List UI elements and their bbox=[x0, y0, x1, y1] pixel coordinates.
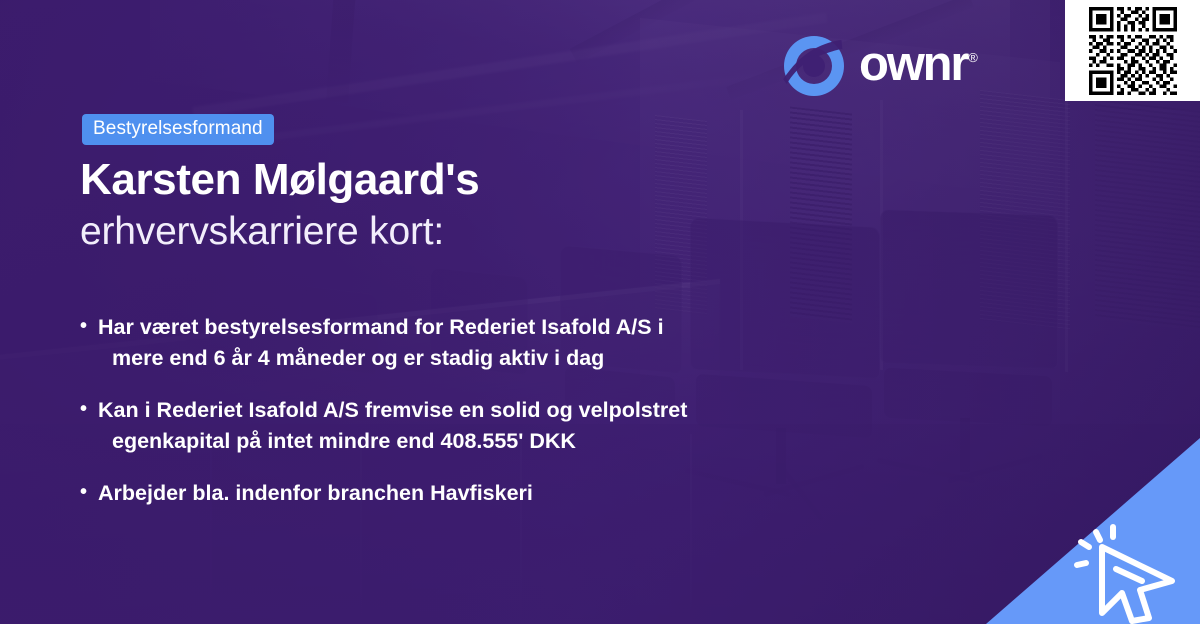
list-item: • Har været bestyrelsesformand for Reder… bbox=[80, 312, 880, 373]
ownr-logo[interactable]: ownr® bbox=[782, 34, 977, 98]
registered-trademark-icon: ® bbox=[968, 50, 978, 65]
page-title: Karsten Mølgaard's bbox=[80, 158, 479, 202]
list-item-text: Har været bestyrelsesformand for Rederie… bbox=[98, 312, 880, 373]
ownr-swirl-circle-icon bbox=[782, 34, 846, 98]
list-item: • Arbejder bla. indenfor branchen Havfis… bbox=[80, 478, 880, 509]
role-badge: Bestyrelsesformand bbox=[82, 114, 274, 145]
card-content: ownr® Bestyrelsesformand Karsten Mølgaar… bbox=[0, 0, 1200, 624]
qr-code-icon bbox=[1089, 7, 1177, 95]
list-item-text: Kan i Rederiet Isafold A/S fremvise en s… bbox=[98, 395, 880, 456]
qr-code-panel[interactable] bbox=[1065, 0, 1200, 101]
career-card: ownr® Bestyrelsesformand Karsten Mølgaar… bbox=[0, 0, 1200, 624]
page-subtitle: erhvervskarriere kort: bbox=[80, 212, 444, 251]
career-highlights-list: • Har været bestyrelsesformand for Reder… bbox=[80, 312, 880, 531]
bullet-dot-icon: • bbox=[80, 395, 98, 423]
list-item: • Kan i Rederiet Isafold A/S fremvise en… bbox=[80, 395, 880, 456]
bullet-dot-icon: • bbox=[80, 478, 98, 506]
ownr-wordmark: ownr® bbox=[859, 40, 977, 89]
bullet-dot-icon: • bbox=[80, 312, 98, 340]
list-item-text: Arbejder bla. indenfor branchen Havfiske… bbox=[98, 478, 880, 509]
